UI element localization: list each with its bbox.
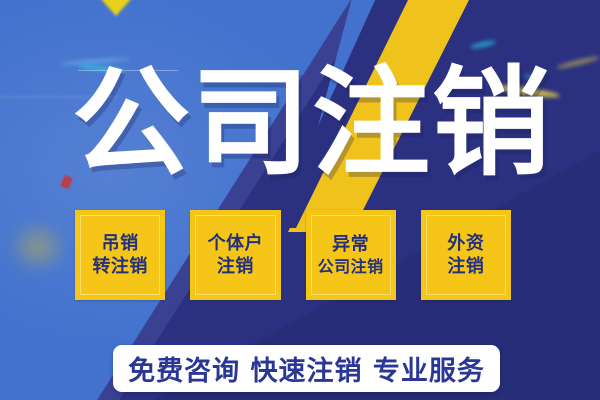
badge-inner: 吊销 转注销 <box>80 215 160 295</box>
badge-inner: 外资 注销 <box>426 215 506 295</box>
badge-row: 吊销 转注销 个体户 注销 异常 公司注销 外资 注销 <box>75 210 511 300</box>
badge-yichang-gongsi-zhuxiao[interactable]: 异常 公司注销 <box>306 210 396 300</box>
badge-line-2: 注销 <box>217 257 254 276</box>
badge-diaoxiao-zhuanzhuxiao[interactable]: 吊销 转注销 <box>75 210 165 300</box>
badge-waizi-zhuxiao[interactable]: 外资 注销 <box>421 210 511 300</box>
badge-inner: 异常 公司注销 <box>311 215 391 295</box>
badge-line-2: 转注销 <box>92 257 148 276</box>
headline-title: 公司注销 <box>72 58 532 188</box>
badge-getihu-zhuxiao[interactable]: 个体户 注销 <box>190 210 280 300</box>
badge-line-1: 个体户 <box>208 234 264 253</box>
footer-slogan-text: 免费咨询 快速注销 专业服务 <box>128 349 485 388</box>
footer-slogan-pill[interactable]: 免费咨询 快速注销 专业服务 <box>113 345 500 392</box>
badge-line-1: 外资 <box>447 234 484 253</box>
badge-line-1: 异常 <box>332 235 369 254</box>
promo-banner: 公司注销 吊销 转注销 个体户 注销 异常 公司注销 外资 注销 <box>0 0 600 400</box>
badge-line-1: 吊销 <box>102 234 139 253</box>
badge-inner: 个体户 注销 <box>195 215 275 295</box>
badge-line-2: 注销 <box>447 257 484 276</box>
badge-line-2: 公司注销 <box>318 258 384 275</box>
